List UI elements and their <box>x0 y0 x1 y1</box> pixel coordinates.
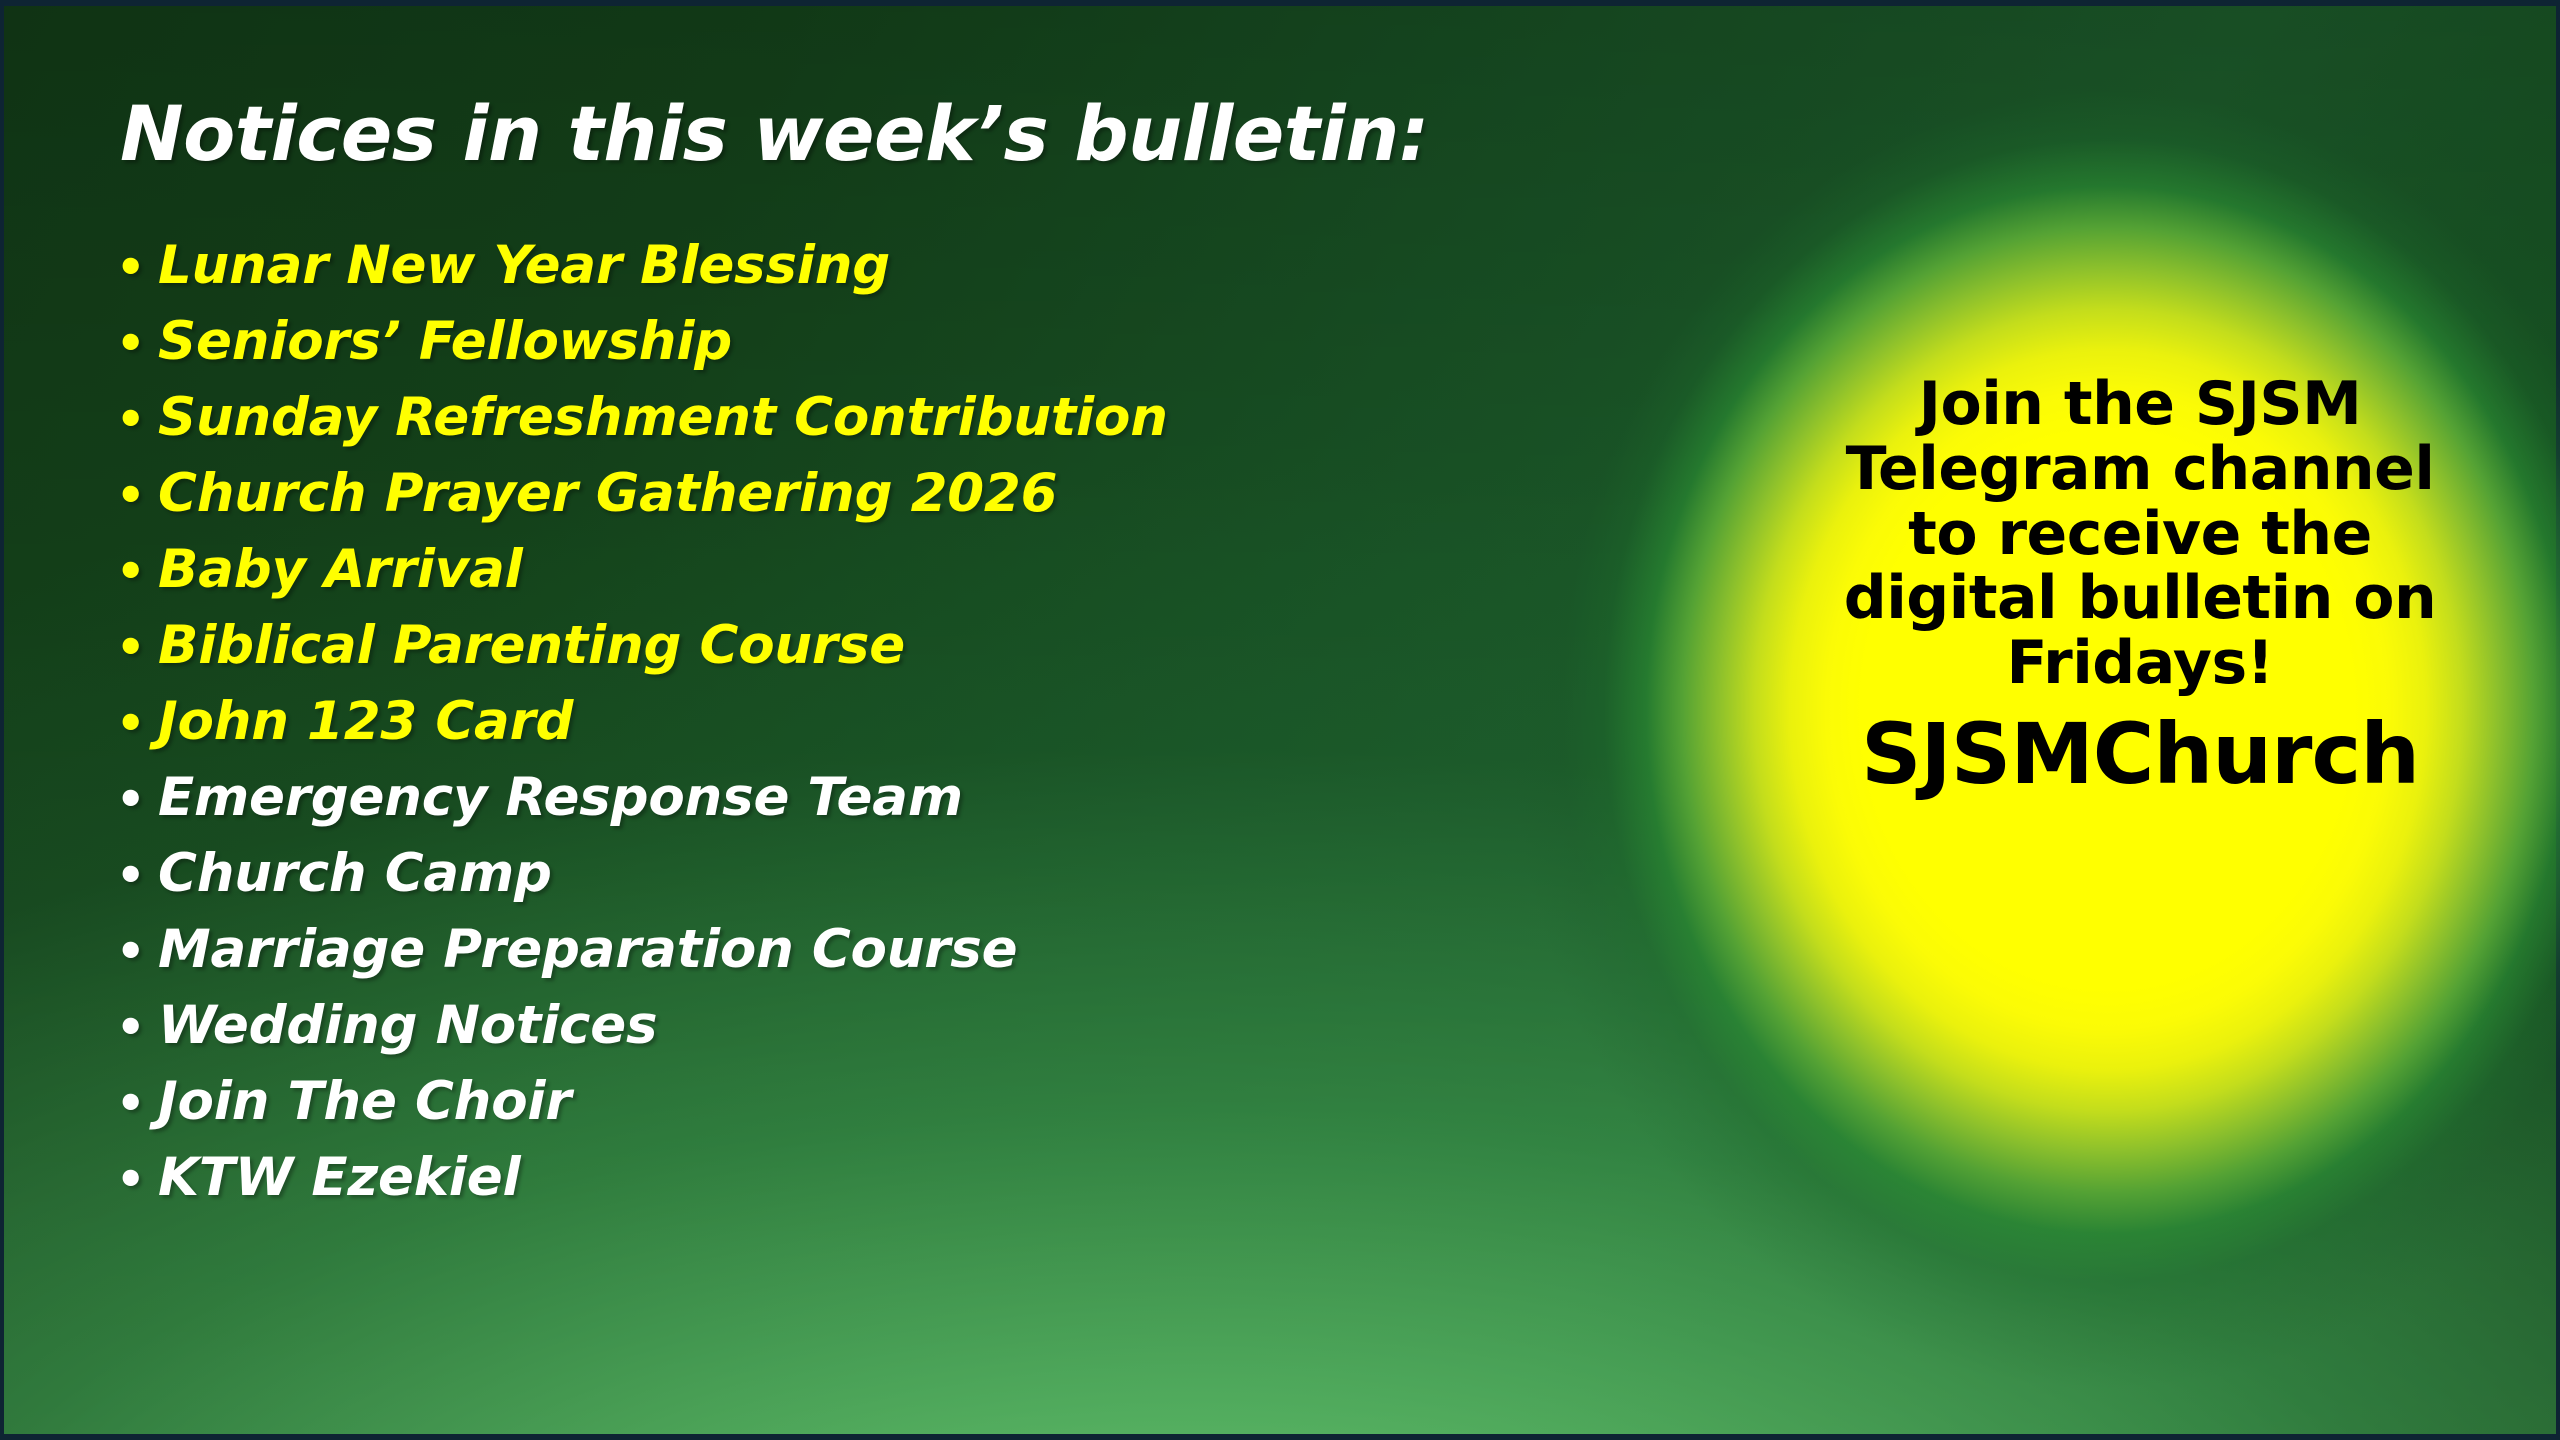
bullet-icon: • <box>116 913 158 989</box>
list-item: •Seniors’ Fellowship <box>116 304 1168 380</box>
list-item: •Lunar New Year Blessing <box>116 228 1168 304</box>
list-item-label: Church Camp <box>158 843 552 904</box>
list-item-label: Biblical Parenting Course <box>158 615 905 676</box>
promo-line: to receive the <box>1740 502 2540 567</box>
bullet-icon: • <box>116 837 158 913</box>
list-item-label: Church Prayer Gathering 2026 <box>158 463 1057 524</box>
list-item-label: Seniors’ Fellowship <box>158 311 732 372</box>
bullet-icon: • <box>116 305 158 381</box>
list-item: •Join The Choir <box>116 1064 1168 1140</box>
list-item-label: Sunday Refreshment Contribution <box>158 387 1168 448</box>
list-item: •KTW Ezekiel <box>116 1140 1168 1216</box>
bulletin-notices-slide: Notices in this week’s bulletin: •Lunar … <box>0 0 2560 1440</box>
list-item: •Sunday Refreshment Contribution <box>116 380 1168 456</box>
bullet-icon: • <box>116 761 158 837</box>
bullet-icon: • <box>116 381 158 457</box>
telegram-handle[interactable]: SJSMChurch <box>1740 710 2540 798</box>
list-item-label: Baby Arrival <box>158 539 523 600</box>
bullet-icon: • <box>116 685 158 761</box>
telegram-promo-text: Join the SJSMTelegram channelto receive … <box>1740 372 2540 696</box>
list-item: •Emergency Response Team <box>116 760 1168 836</box>
list-item-label: Emergency Response Team <box>158 767 963 828</box>
list-item-label: Wedding Notices <box>158 995 657 1056</box>
bullet-icon: • <box>116 1141 158 1217</box>
bullet-icon: • <box>116 533 158 609</box>
notices-list: •Lunar New Year Blessing•Seniors’ Fellow… <box>116 228 1168 1216</box>
bullet-icon: • <box>116 229 158 305</box>
telegram-promo-block: Join the SJSMTelegram channelto receive … <box>1740 372 2540 798</box>
list-item: •Marriage Preparation Course <box>116 912 1168 988</box>
notices-panel: Notices in this week’s bulletin: •Lunar … <box>0 0 1620 1440</box>
page-title: Notices in this week’s bulletin: <box>120 96 1429 172</box>
promo-line: Fridays! <box>1740 631 2540 696</box>
promo-line: Telegram channel <box>1740 437 2540 502</box>
list-item: •Church Prayer Gathering 2026 <box>116 456 1168 532</box>
bullet-icon: • <box>116 989 158 1065</box>
bullet-icon: • <box>116 1065 158 1141</box>
list-item: •Church Camp <box>116 836 1168 912</box>
promo-line: digital bulletin on <box>1740 566 2540 631</box>
list-item: •John 123 Card <box>116 684 1168 760</box>
list-item: •Baby Arrival <box>116 532 1168 608</box>
list-item: •Biblical Parenting Course <box>116 608 1168 684</box>
list-item-label: Marriage Preparation Course <box>158 919 1017 980</box>
bullet-icon: • <box>116 609 158 685</box>
promo-line: Join the SJSM <box>1740 372 2540 437</box>
list-item-label: John 123 Card <box>158 691 573 752</box>
list-item-label: KTW Ezekiel <box>158 1147 520 1208</box>
list-item: •Wedding Notices <box>116 988 1168 1064</box>
bullet-icon: • <box>116 457 158 533</box>
list-item-label: Join The Choir <box>158 1071 571 1132</box>
list-item-label: Lunar New Year Blessing <box>158 235 890 296</box>
